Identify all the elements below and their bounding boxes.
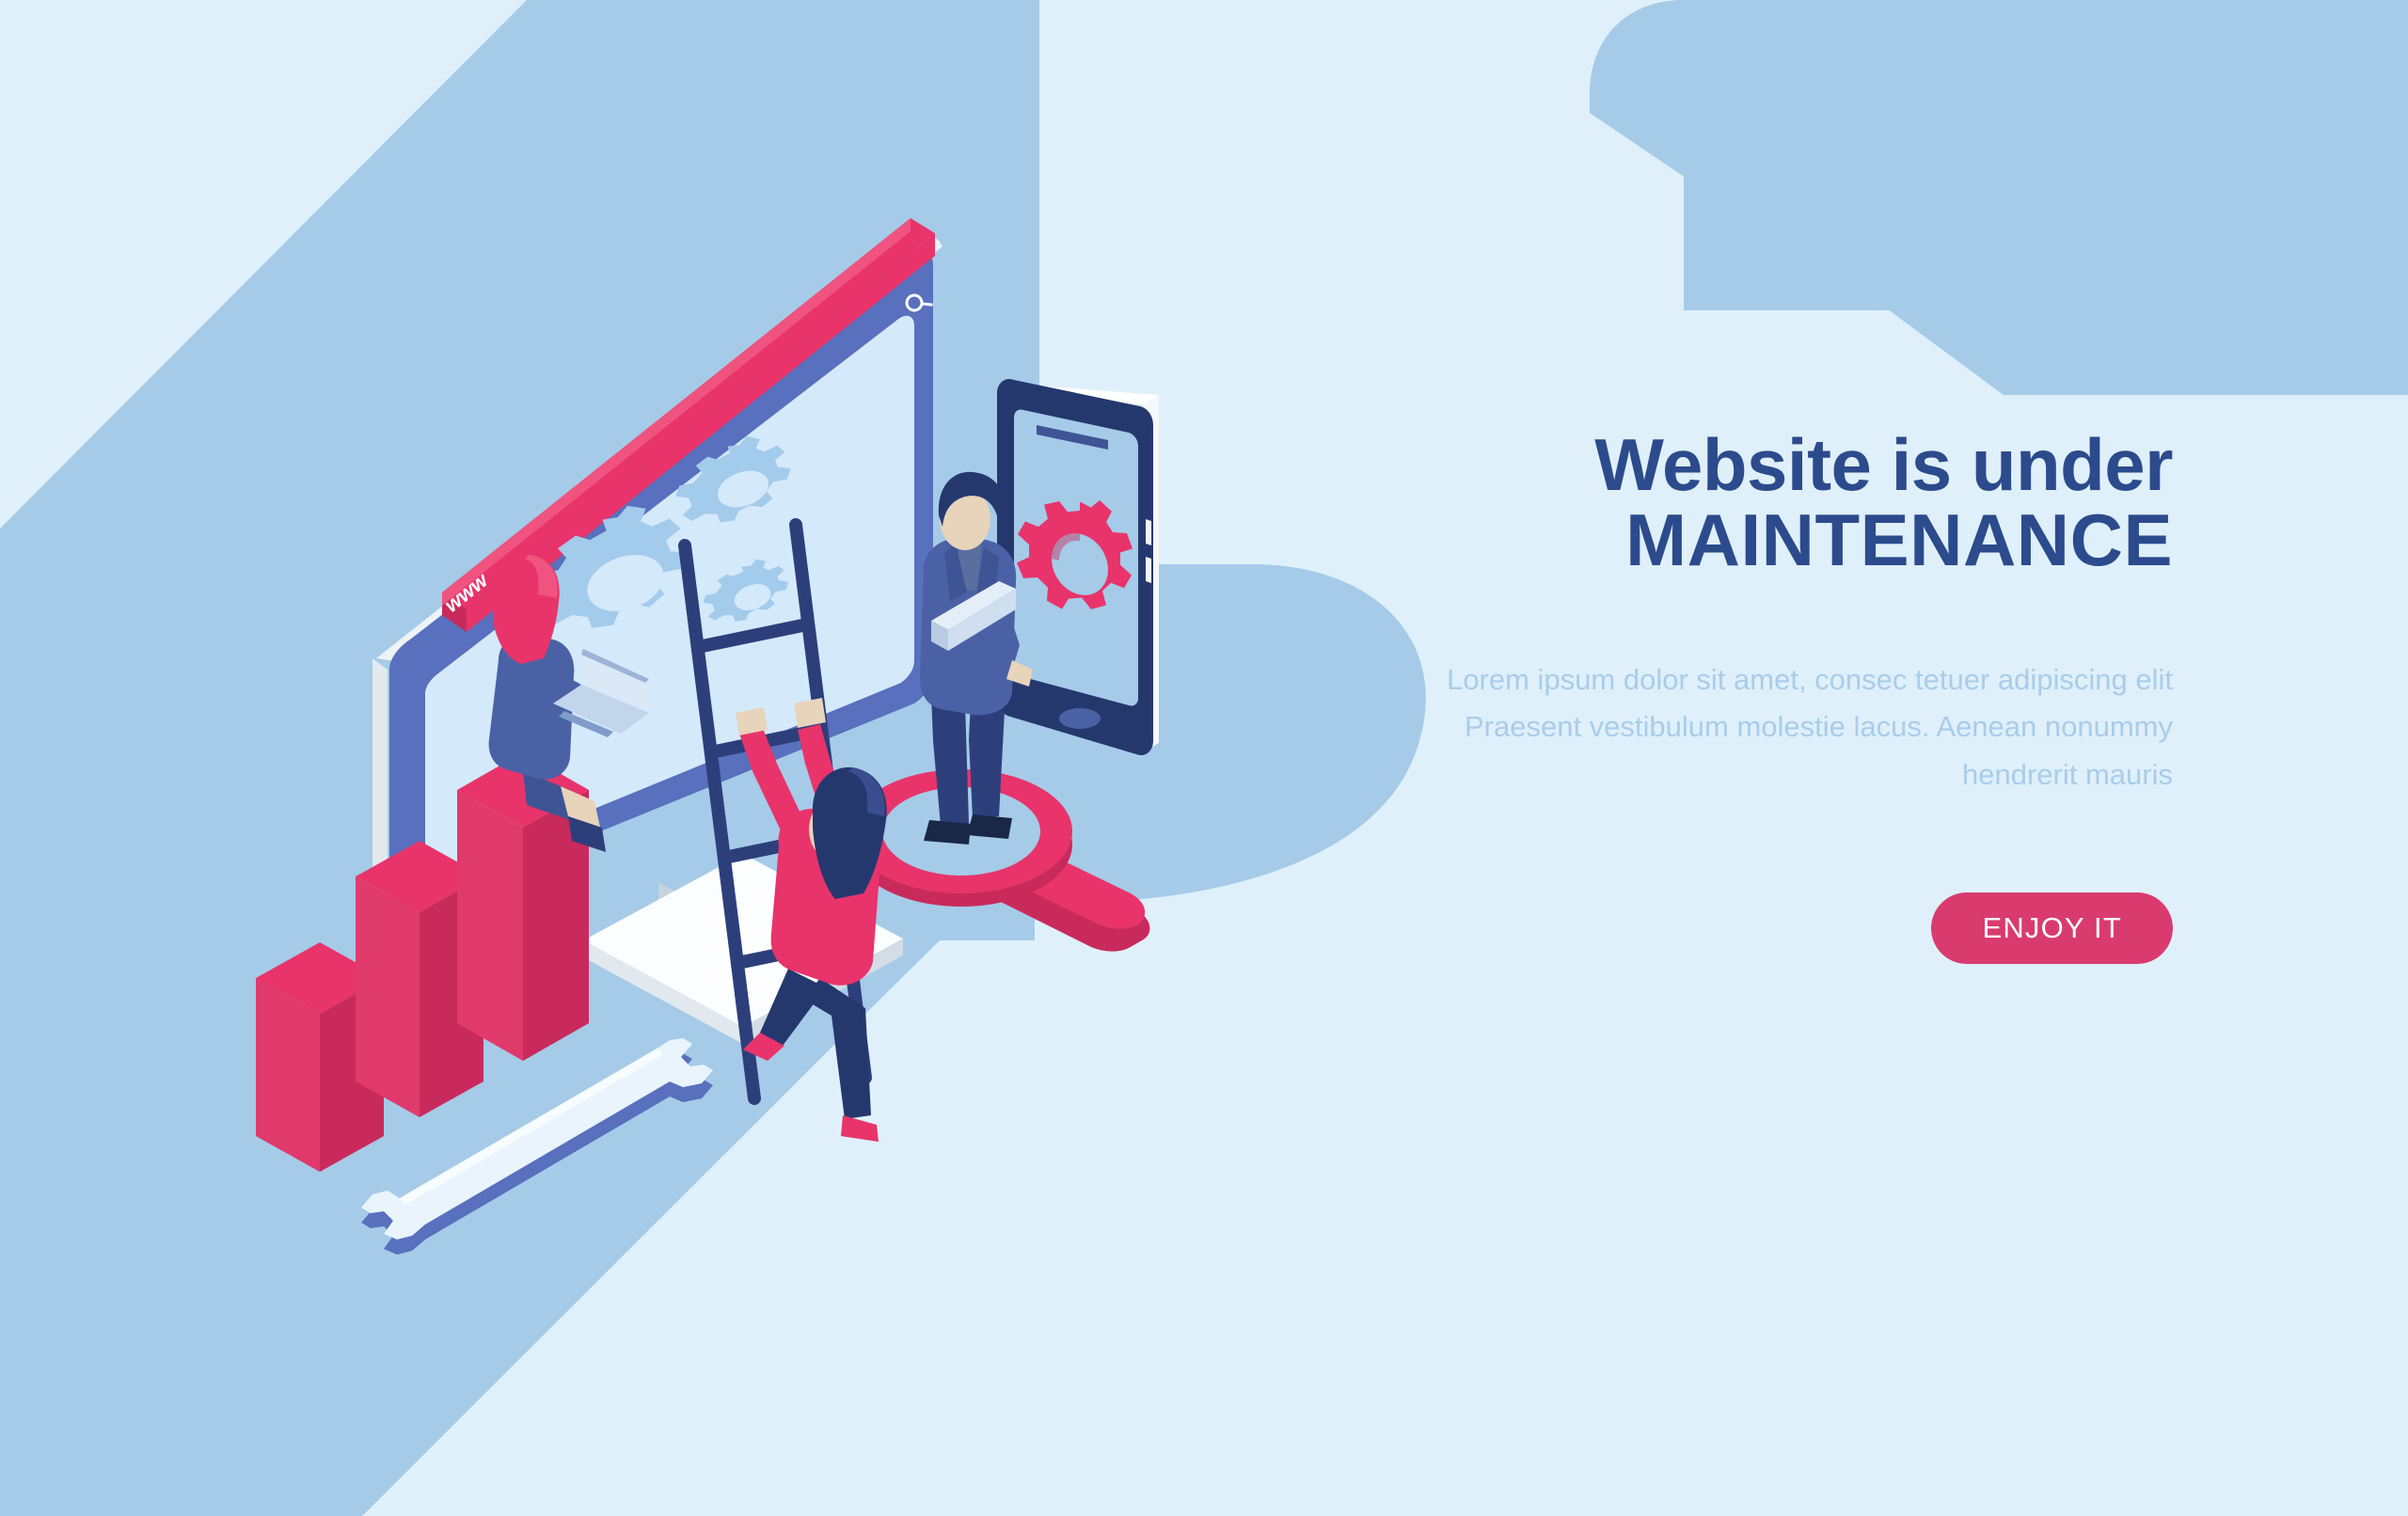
- tablet-home-button[interactable]: [1059, 708, 1101, 729]
- page-title-line-1: Website is under: [1594, 423, 2173, 506]
- page-title-line-2: MAINTENANCE: [1625, 498, 2173, 581]
- woman2-shoe-back: [841, 1115, 879, 1142]
- hero-description: Lorem ipsum dolor sit amet, consec tetue…: [1402, 656, 2173, 798]
- magnifier-icon: [850, 769, 1149, 952]
- page-title: Website is under MAINTENANCE: [1402, 428, 2173, 577]
- man-leg-right: [969, 702, 1005, 818]
- enjoy-it-button[interactable]: ENJOY IT: [1931, 892, 2173, 964]
- bar-3-left: [457, 790, 523, 1061]
- man-shoe-right: [967, 814, 1012, 839]
- hero-description-line-2: Praesent vestibulum molestie lacus. Aene…: [1465, 710, 2173, 743]
- hero-description-line-3: hendrerit mauris: [1962, 758, 2173, 791]
- tablet-device: [997, 379, 1159, 755]
- hero-copy: Website is under MAINTENANCE Lorem ipsum…: [1402, 428, 2173, 964]
- page-root: www: [0, 0, 2408, 1516]
- bar-2-left: [356, 876, 420, 1117]
- tablet-volume-up[interactable]: [1146, 519, 1151, 545]
- man-shoe-left: [924, 820, 971, 845]
- tablet-volume-down[interactable]: [1146, 557, 1151, 583]
- cta-container: ENJOY IT: [1402, 892, 2173, 964]
- hero-description-line-1: Lorem ipsum dolor sit amet, consec tetue…: [1447, 663, 2173, 696]
